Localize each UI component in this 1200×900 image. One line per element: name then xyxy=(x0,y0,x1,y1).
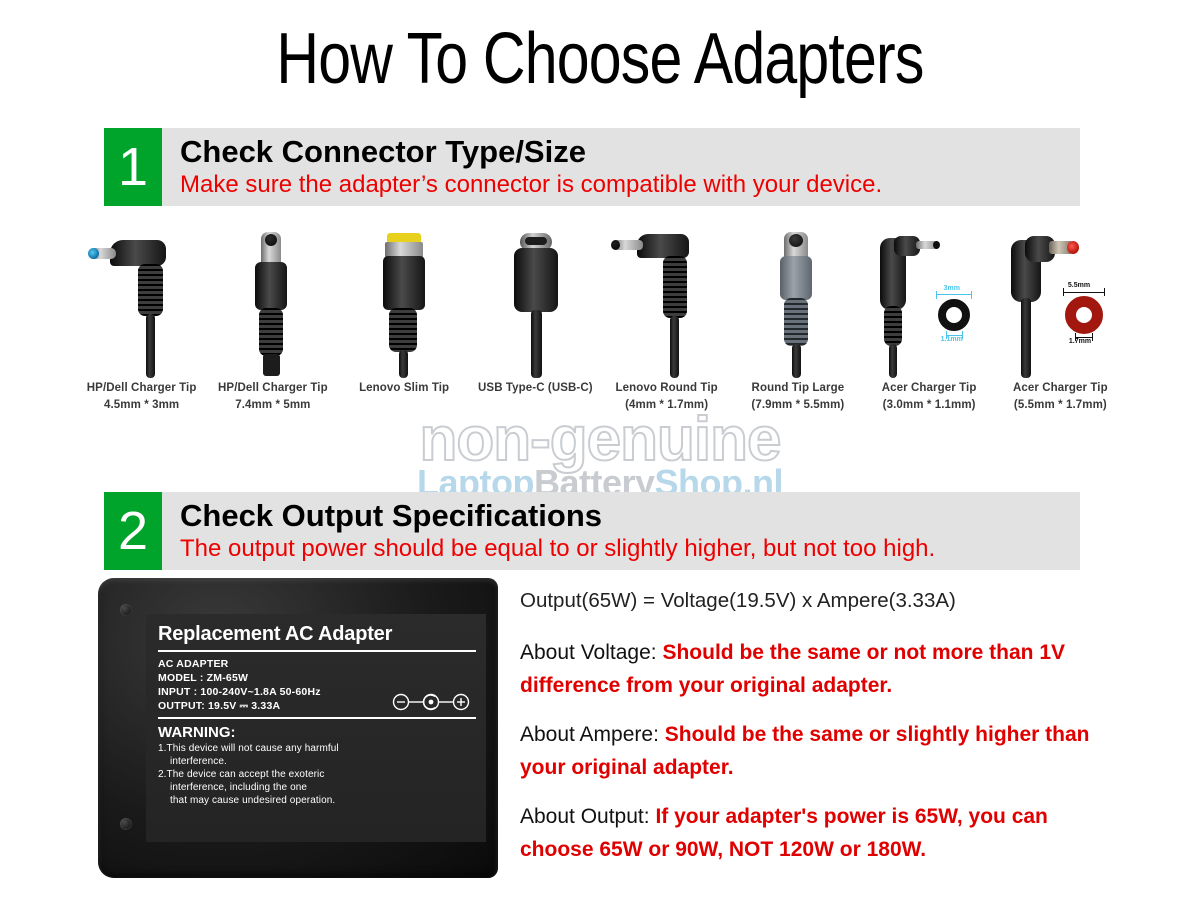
step-1-badge: 1 xyxy=(104,128,162,206)
about-ampere-line: About Ampere: Should be the same or slig… xyxy=(520,718,1090,784)
straight-barrel-connector-icon xyxy=(207,228,338,380)
inset-outer-label-0: 3mm xyxy=(944,285,960,292)
divider xyxy=(158,717,476,719)
divider xyxy=(158,650,476,652)
adapter-spec-block: AC ADAPTER MODEL : ZM-65W INPUT : 100-24… xyxy=(158,657,476,713)
size-diagram-5-5mm: 5.5mm 1.7mm xyxy=(1053,284,1119,342)
size-diagram-3mm: 3mm 1.1mm xyxy=(924,286,986,342)
screw-icon xyxy=(120,604,132,616)
connector-gallery: HP/Dell Charger Tip 4.5mm * 3mm HP/Dell … xyxy=(76,228,1126,438)
inset-inner-label-1: 1.7mm xyxy=(1069,338,1091,345)
adapter-spec-type: AC ADAPTER xyxy=(158,657,476,671)
connector-name-4: Lenovo Round Tip xyxy=(615,380,717,397)
connector-item-4: Lenovo Round Tip (4mm * 1.7mm) xyxy=(601,228,732,438)
connector-size-4: (4mm * 1.7mm) xyxy=(625,397,708,414)
connector-size-6: (3.0mm * 1.1mm) xyxy=(883,397,976,414)
output-equation: Output(65W) = Voltage(19.5V) x Ampere(3.… xyxy=(520,588,1090,614)
about-voltage-key: About Voltage: xyxy=(520,641,657,664)
connector-size-1: 7.4mm * 5mm xyxy=(235,397,310,414)
about-ampere-key: About Ampere: xyxy=(520,723,659,746)
connector-item-5: Round Tip Large (7.9mm * 5.5mm) xyxy=(732,228,863,438)
usb-type-c-connector-icon xyxy=(470,228,601,380)
polarity-symbol-icon xyxy=(392,693,470,711)
adapter-label-panel: Replacement AC Adapter AC ADAPTER MODEL … xyxy=(146,614,486,842)
screw-icon xyxy=(120,818,132,830)
step-2-subtitle: The output power should be equal to or s… xyxy=(180,534,1080,564)
about-output-key: About Output: xyxy=(520,805,650,828)
inset-outer-label-1: 5.5mm xyxy=(1068,282,1090,289)
connector-size-7: (5.5mm * 1.7mm) xyxy=(1014,397,1107,414)
connector-name-6: Acer Charger Tip xyxy=(882,380,977,397)
connector-item-3: USB Type-C (USB-C) xyxy=(470,228,601,438)
right-angle-round-tip-connector-icon xyxy=(601,228,732,380)
lenovo-rectangular-slim-tip-connector-icon xyxy=(339,228,470,380)
about-output-line: About Output: If your adapter's power is… xyxy=(520,800,1090,866)
step-1-subtitle: Make sure the adapter’s connector is com… xyxy=(180,170,1080,200)
step-1-header: 1 Check Connector Type/Size Make sure th… xyxy=(104,128,1080,206)
step-1-texts: Check Connector Type/Size Make sure the … xyxy=(162,128,1080,206)
connector-name-0: HP/Dell Charger Tip xyxy=(87,380,197,397)
connector-item-1: HP/Dell Charger Tip 7.4mm * 5mm xyxy=(207,228,338,438)
output-spec-text: Output(65W) = Voltage(19.5V) x Ampere(3.… xyxy=(520,588,1090,882)
connector-name-1: HP/Dell Charger Tip xyxy=(218,380,328,397)
about-voltage-line: About Voltage: Should be the same or not… xyxy=(520,636,1090,702)
adapter-warning-line-2c: that may cause undesired operation. xyxy=(158,794,476,807)
connector-name-5: Round Tip Large xyxy=(752,380,845,397)
adapter-warning-line-1a: 1.This device will not cause any harmful xyxy=(158,742,476,755)
step-1-title: Check Connector Type/Size xyxy=(180,134,1080,170)
connector-name-7: Acer Charger Tip xyxy=(1013,380,1108,397)
adapter-warning-line-2a: 2.The device can accept the exoteric xyxy=(158,768,476,781)
adapter-warning-line-1b: interference. xyxy=(158,755,476,768)
large-round-tip-connector-icon xyxy=(732,228,863,380)
inset-inner-label-0: 1.1mm xyxy=(941,336,963,343)
adapter-warning-heading: WARNING: xyxy=(158,724,476,742)
right-angle-blue-tip-connector-icon xyxy=(76,228,207,380)
adapter-label-title: Replacement AC Adapter xyxy=(158,622,476,646)
page-title: How To Choose Adapters xyxy=(108,16,1092,102)
connector-item-2: Lenovo Slim Tip xyxy=(339,228,470,438)
connector-item-6: 3mm 1.1mm Acer Charger Tip (3.0mm * 1.1m… xyxy=(864,228,995,438)
ac-adapter-photo: Replacement AC Adapter AC ADAPTER MODEL … xyxy=(98,578,498,878)
connector-name-2: Lenovo Slim Tip xyxy=(359,380,449,397)
acer-right-angle-connector-icon: 3mm 1.1mm xyxy=(864,228,995,380)
connector-size-0: 4.5mm * 3mm xyxy=(104,397,179,414)
connector-item-0: HP/Dell Charger Tip 4.5mm * 3mm xyxy=(76,228,207,438)
poster-root: How To Choose Adapters 1 Check Connector… xyxy=(0,0,1200,900)
connector-size-5: (7.9mm * 5.5mm) xyxy=(751,397,844,414)
adapter-warning-line-2b: interference, including the one xyxy=(158,781,476,794)
step-2-title: Check Output Specifications xyxy=(180,498,1080,534)
connector-name-3: USB Type-C (USB-C) xyxy=(478,380,593,397)
step-2-header: 2 Check Output Specifications The output… xyxy=(104,492,1080,570)
step-2-texts: Check Output Specifications The output p… xyxy=(162,492,1080,570)
connector-item-7: 5.5mm 1.7mm Acer Charger Tip (5.5mm * 1.… xyxy=(995,228,1126,438)
step-2-badge: 2 xyxy=(104,492,162,570)
adapter-spec-model: MODEL : ZM-65W xyxy=(158,671,476,685)
acer-right-angle-red-tip-connector-icon: 5.5mm 1.7mm xyxy=(995,228,1126,380)
